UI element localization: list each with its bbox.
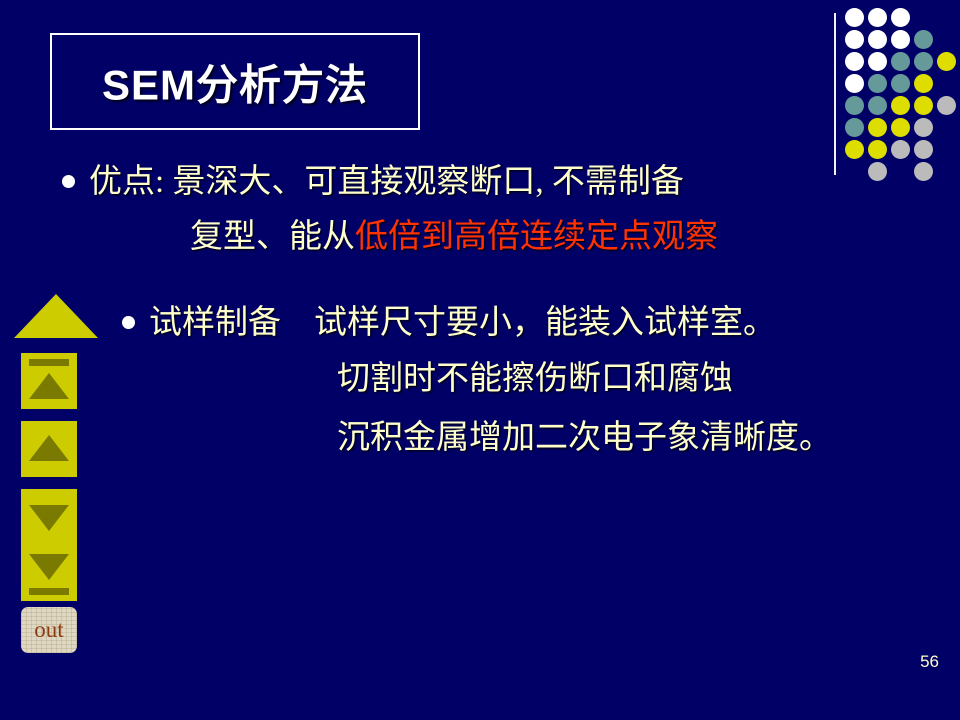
bullet-marker-icon	[122, 316, 135, 329]
bullet-1-text-line-2-highlight: 低倍到高倍连续定点观察	[355, 219, 718, 255]
bullet-item-2-line-3: 沉积金属增加二次电子象清晰度。	[337, 419, 832, 457]
bullet-item-2-line-2: 切割时不能擦伤断口和腐蚀	[337, 360, 733, 398]
triangle-down-icon	[29, 554, 69, 580]
decorative-dot	[891, 52, 910, 71]
decorative-dot	[914, 96, 933, 115]
decorative-dot	[845, 74, 864, 93]
slide-canvas: SEM分析方法 优点: 景深大、可直接观察断口, 不需制备 复型、能从低倍到高倍…	[0, 0, 960, 720]
decorative-dot	[937, 96, 956, 115]
decorative-dot	[891, 140, 910, 159]
page-number: 56	[920, 652, 939, 672]
decorative-dot	[868, 52, 887, 71]
decorative-dot	[845, 30, 864, 49]
decorative-dot	[845, 140, 864, 159]
decorative-dot-grid	[845, 8, 960, 178]
exit-button[interactable]: out	[21, 607, 77, 653]
decorative-dot	[914, 162, 933, 181]
decorative-dot	[868, 74, 887, 93]
bullet-1-text-line-2-prefix: 复型、能从	[190, 219, 355, 255]
decorative-dot	[868, 162, 887, 181]
bullet-item-2-line-1: 试样制备 试样尺寸要小，能装入试样室。	[122, 304, 776, 342]
header-divider-rule	[834, 13, 836, 175]
bullet-2-text-line-1: 试样制备 试样尺寸要小，能装入试样室。	[149, 305, 776, 341]
decorative-dot	[914, 140, 933, 159]
decorative-dot	[845, 96, 864, 115]
decorative-dot	[868, 8, 887, 27]
decorative-dot	[868, 96, 887, 115]
previous-slide-button[interactable]	[21, 421, 77, 477]
bullet-item-1-line-2: 复型、能从低倍到高倍连续定点观察	[190, 218, 718, 256]
decorative-dot	[891, 30, 910, 49]
first-slide-button[interactable]	[21, 353, 77, 409]
decorative-dot	[891, 8, 910, 27]
last-slide-button[interactable]	[21, 545, 77, 601]
decorative-dot	[845, 8, 864, 27]
decorative-dot	[868, 118, 887, 137]
decorative-dot	[914, 74, 933, 93]
triangle-up-icon	[29, 373, 69, 399]
bar-bottom-icon	[29, 588, 69, 595]
decorative-dot	[845, 118, 864, 137]
triangle-up-icon	[29, 435, 69, 461]
bar-top-icon	[29, 359, 69, 366]
decorative-dot	[914, 30, 933, 49]
decorative-dot	[914, 118, 933, 137]
decorative-dot	[937, 52, 956, 71]
pointer-triangle-icon	[14, 294, 98, 338]
bullet-item-1-line-1: 优点: 景深大、可直接观察断口, 不需制备	[62, 163, 684, 201]
decorative-dot	[891, 96, 910, 115]
next-slide-button[interactable]	[21, 489, 77, 545]
decorative-dot	[868, 30, 887, 49]
decorative-dot	[891, 118, 910, 137]
triangle-down-icon	[29, 505, 69, 531]
decorative-dot	[914, 52, 933, 71]
navigation-panel: out	[0, 0, 110, 720]
decorative-dot	[845, 52, 864, 71]
decorative-dot	[868, 140, 887, 159]
bullet-1-text-line-1: 优点: 景深大、可直接观察断口, 不需制备	[89, 164, 684, 200]
decorative-dot	[891, 74, 910, 93]
